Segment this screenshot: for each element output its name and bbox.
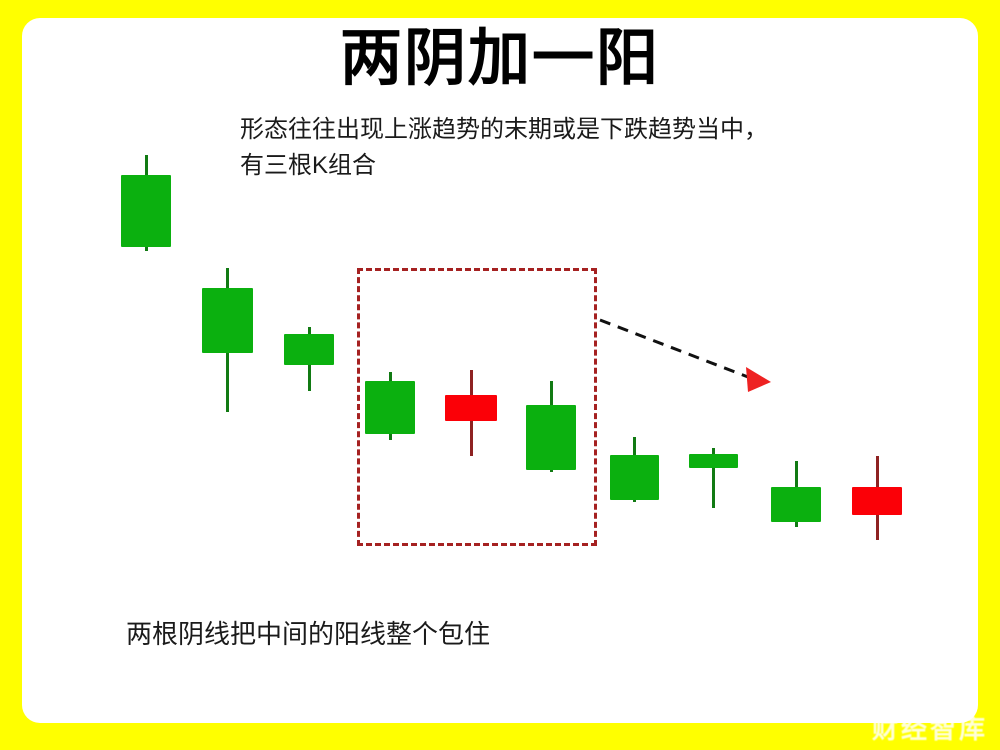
infographic-canvas: 两阴加一阳 形态往往出现上涨趋势的末期或是下跌趋势当中， 有三根K组合 两根阴线… xyxy=(0,0,1000,750)
pattern-highlight-box xyxy=(357,268,597,546)
candlestick-body xyxy=(689,454,738,468)
candlestick-body xyxy=(284,334,334,365)
candlestick-body xyxy=(121,175,171,247)
candlestick-body xyxy=(610,455,659,500)
footer-note: 两根阴线把中间的阳线整个包住 xyxy=(126,617,490,651)
candlestick-body xyxy=(771,487,821,522)
watermark-logo: 财经智库 xyxy=(872,709,988,746)
candlestick-body xyxy=(202,288,253,353)
candlestick-body xyxy=(852,487,902,515)
